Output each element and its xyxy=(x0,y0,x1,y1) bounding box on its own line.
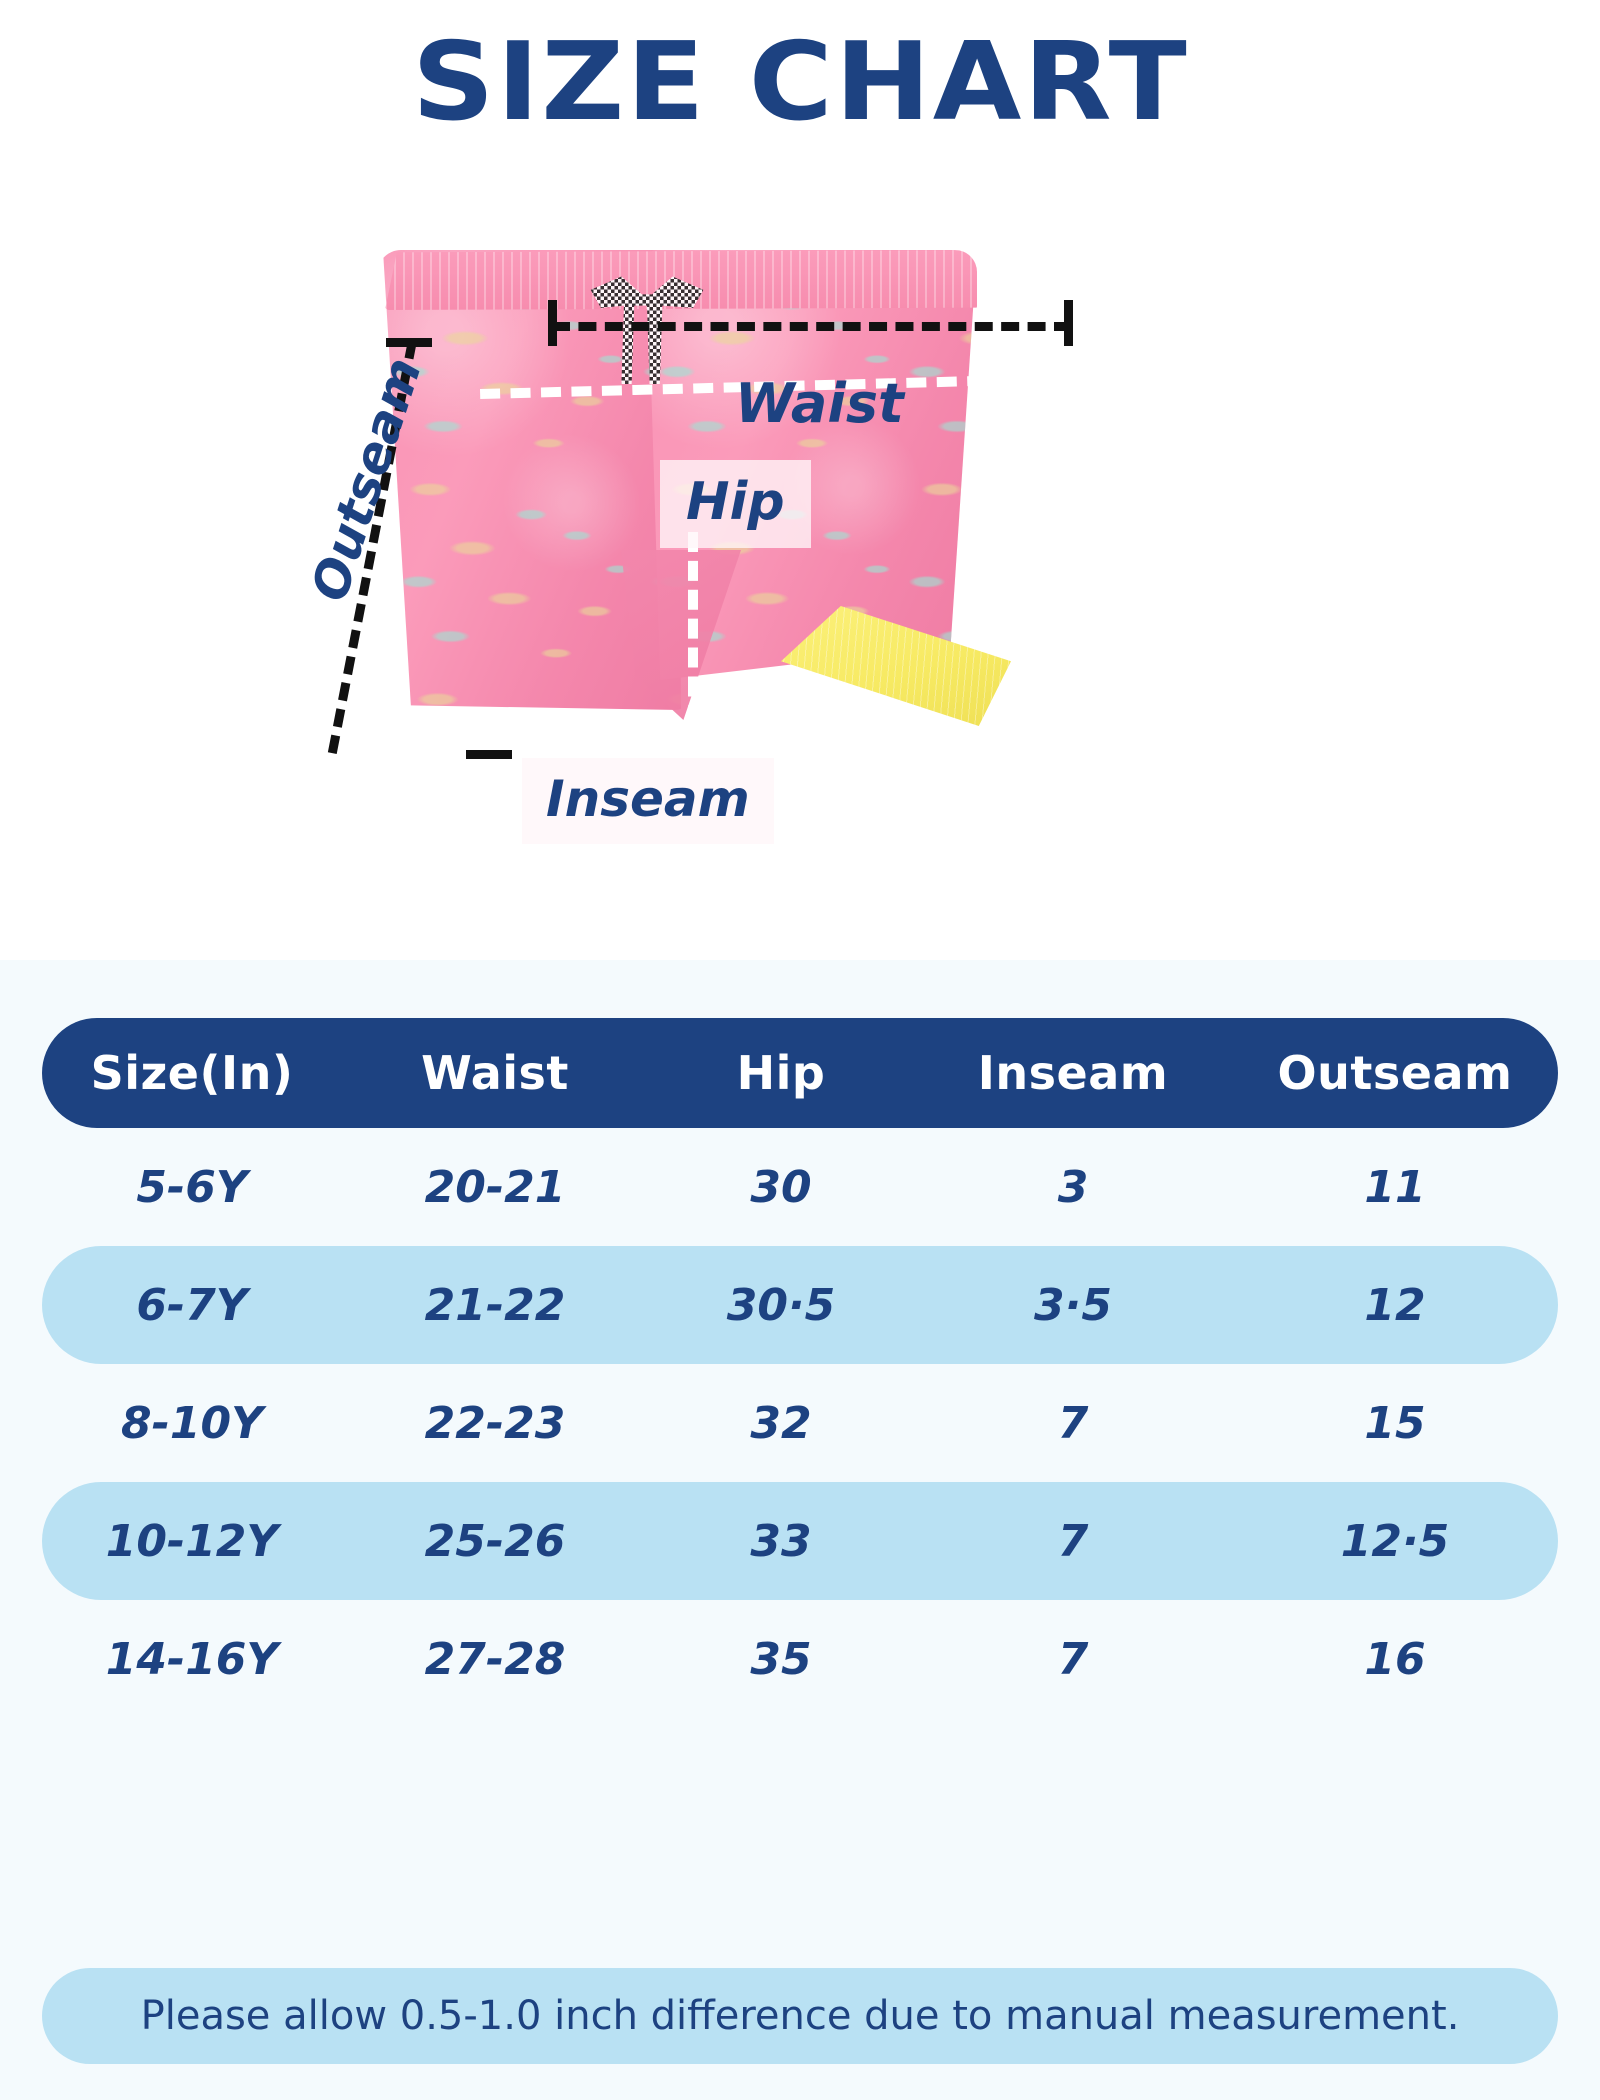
cell-waist: 22-23 xyxy=(342,1398,648,1449)
cell-inseam: 3 xyxy=(914,1162,1232,1213)
cell-hip: 30 xyxy=(648,1162,914,1213)
cell-outseam: 16 xyxy=(1232,1634,1558,1685)
cell-inseam: 7 xyxy=(914,1398,1232,1449)
cell-hip: 33 xyxy=(648,1516,914,1567)
label-inseam: Inseam xyxy=(522,758,774,844)
cell-outseam: 11 xyxy=(1232,1162,1558,1213)
garment-diagram: Waist Outseam Hip Inseam xyxy=(0,160,1600,960)
column-header-waist: Waist xyxy=(342,1046,648,1100)
cell-inseam: 3·5 xyxy=(914,1280,1232,1331)
outseam-measure-cap-top xyxy=(386,338,432,347)
size-table: Size(In) Waist Hip Inseam Outseam 5-6Y 2… xyxy=(42,1018,1558,1718)
measurement-disclaimer: Please allow 0.5-1.0 inch difference due… xyxy=(42,1968,1558,2064)
cell-size: 10-12Y xyxy=(42,1516,342,1567)
column-header-outseam: Outseam xyxy=(1232,1046,1558,1100)
cell-inseam: 7 xyxy=(914,1634,1232,1685)
page-title-container: SIZE CHART xyxy=(0,26,1600,139)
column-header-size: Size(In) xyxy=(42,1046,342,1100)
cell-waist: 25-26 xyxy=(342,1516,648,1567)
cell-waist: 20-21 xyxy=(342,1162,648,1213)
cell-inseam: 7 xyxy=(914,1516,1232,1567)
cell-waist: 27-28 xyxy=(342,1634,648,1685)
table-row: 10-12Y 25-26 33 7 12·5 xyxy=(42,1482,1558,1600)
cell-hip: 32 xyxy=(648,1398,914,1449)
label-hip: Hip xyxy=(660,460,811,548)
column-header-hip: Hip xyxy=(648,1046,914,1100)
cell-size: 6-7Y xyxy=(42,1280,342,1331)
table-row: 8-10Y 22-23 32 7 15 xyxy=(42,1364,1558,1482)
table-row: 5-6Y 20-21 30 3 11 xyxy=(42,1128,1558,1246)
cell-size: 8-10Y xyxy=(42,1398,342,1449)
cell-size: 5-6Y xyxy=(42,1162,342,1213)
size-table-panel: Size(In) Waist Hip Inseam Outseam 5-6Y 2… xyxy=(0,960,1600,2100)
cell-size: 14-16Y xyxy=(42,1634,342,1685)
cell-hip: 35 xyxy=(648,1634,914,1685)
column-header-inseam: Inseam xyxy=(914,1046,1232,1100)
outseam-measure-cap-bottom xyxy=(466,750,512,759)
measurement-disclaimer-text: Please allow 0.5-1.0 inch difference due… xyxy=(141,1993,1460,2039)
cell-waist: 21-22 xyxy=(342,1280,648,1331)
table-row: 6-7Y 21-22 30·5 3·5 12 xyxy=(42,1246,1558,1364)
cell-outseam: 15 xyxy=(1232,1398,1558,1449)
waist-measure-line xyxy=(552,322,1072,331)
table-row: 14-16Y 27-28 35 7 16 xyxy=(42,1600,1558,1718)
page-title: SIZE CHART xyxy=(412,26,1189,139)
cell-outseam: 12·5 xyxy=(1232,1516,1558,1567)
waist-measure-cap-left xyxy=(548,300,557,346)
cell-outseam: 12 xyxy=(1232,1280,1558,1331)
table-header-row: Size(In) Waist Hip Inseam Outseam xyxy=(42,1018,1558,1128)
waist-measure-cap-right xyxy=(1064,300,1073,346)
cell-hip: 30·5 xyxy=(648,1280,914,1331)
label-waist: Waist xyxy=(735,372,904,435)
